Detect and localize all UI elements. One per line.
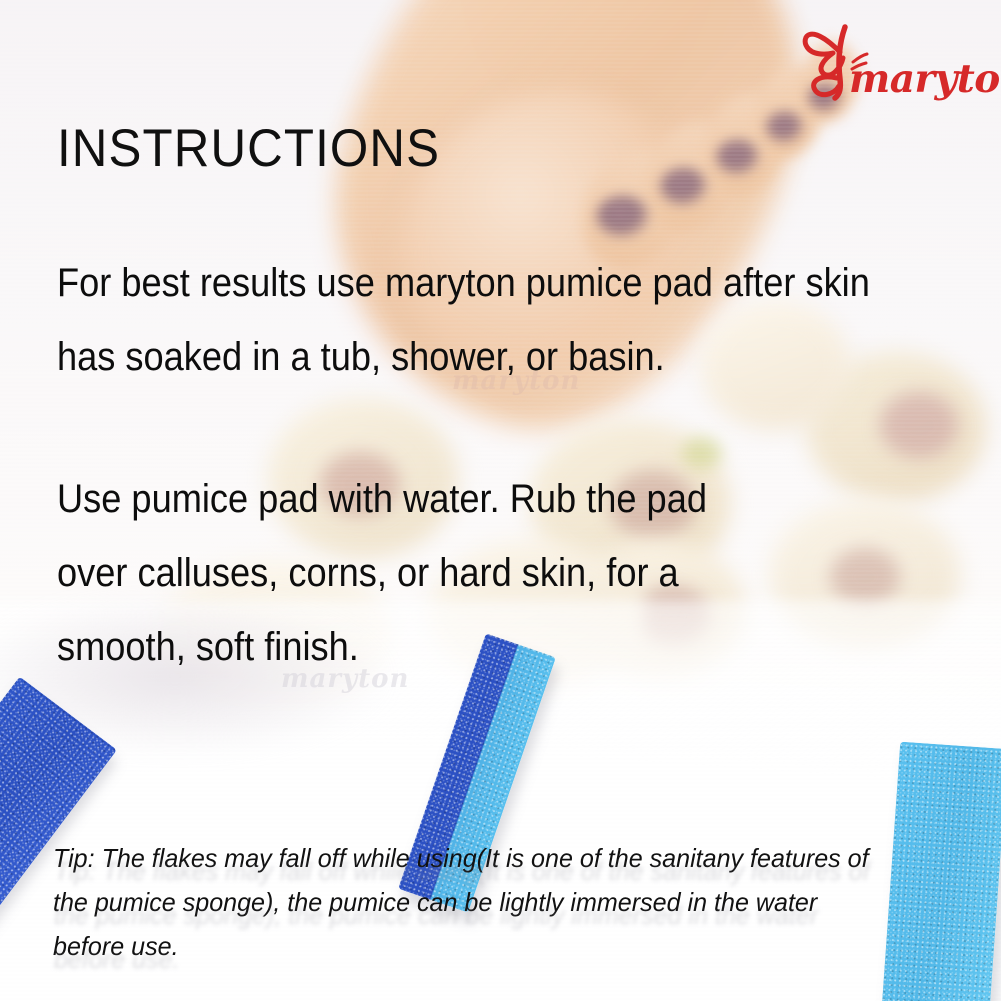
- instruction-paragraph-2: Use pumice pad with water. Rub the pad o…: [57, 462, 707, 684]
- floret-center: [830, 548, 900, 606]
- tip-line: the pumice sponge), the pumice can be li…: [53, 880, 922, 924]
- logo-wordmark: maryton: [849, 56, 1001, 102]
- toenail-shape: [660, 168, 708, 206]
- tip-line: before use.: [53, 924, 922, 968]
- instruction-line: has soaked in a tub, shower, or basin.: [57, 320, 870, 394]
- instruction-card: maryton maryton maryton INSTRUCTIONS For…: [0, 0, 1001, 1001]
- page-title: INSTRUCTIONS: [57, 118, 440, 179]
- foot-ankle-shape: [438, 0, 751, 152]
- floret-center: [880, 392, 958, 458]
- foot-shape: [280, 0, 855, 481]
- toenail-shape: [716, 140, 760, 175]
- instruction-line: Use pumice pad with water. Rub the pad: [57, 462, 707, 536]
- instruction-line: For best results use maryton pumice pad …: [57, 246, 870, 320]
- toenail-shape: [766, 112, 804, 143]
- brand-logo: maryton: [793, 22, 988, 104]
- toe-shape: [630, 108, 750, 243]
- toe-shape: [692, 83, 796, 205]
- instruction-line: smooth, soft finish.: [57, 610, 707, 684]
- petal-shape: [770, 500, 960, 650]
- tip-note: Tip: The flakes may fall off while using…: [53, 836, 922, 968]
- instruction-line: over calluses, corns, or hard skin, for …: [57, 536, 707, 610]
- tip-line: Tip: The flakes may fall off while using…: [53, 836, 922, 880]
- instruction-paragraph-1: For best results use maryton pumice pad …: [57, 246, 870, 394]
- toenail-shape: [596, 196, 650, 238]
